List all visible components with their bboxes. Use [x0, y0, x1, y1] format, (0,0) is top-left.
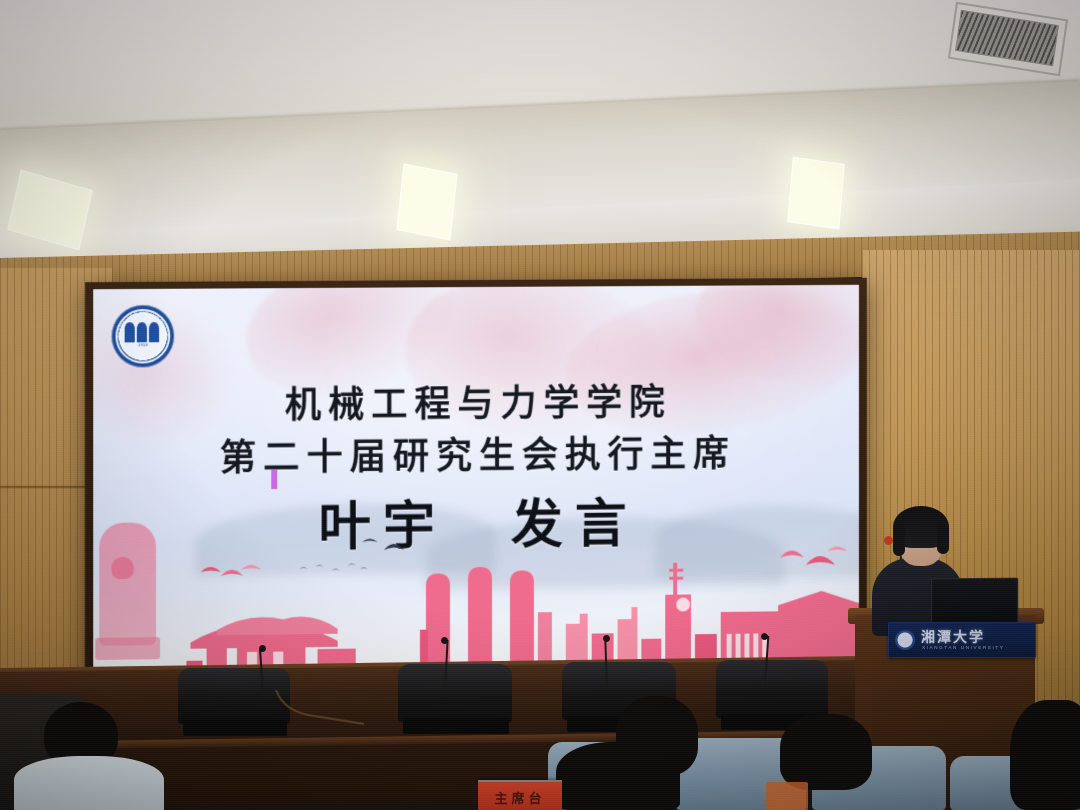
- presentation-slide: 1958 XIANGTAN UNIVERSITY 机械工程与力学学院 第二十届研…: [93, 285, 859, 676]
- audience-head-3: [556, 742, 680, 810]
- xiangtan-university-logo-icon: 1958 XIANGTAN UNIVERSITY: [111, 305, 174, 368]
- statue-base: [95, 637, 160, 660]
- speaker-hair-left: [893, 524, 905, 556]
- table-mic-head-4: [761, 633, 768, 640]
- auditorium-scene: 1958 XIANGTAN UNIVERSITY 机械工程与力学学院 第二十届研…: [0, 0, 1080, 810]
- audience-shoulders-1: [14, 756, 164, 810]
- podium-logo-icon: [895, 630, 915, 650]
- city-skyline-graphic: [93, 517, 859, 676]
- placard-text: 主席台: [478, 788, 562, 807]
- table-mic-head-1: [259, 645, 266, 652]
- table-name-placard: 主席台: [478, 780, 562, 810]
- ceiling-panel-light-2: [396, 163, 457, 240]
- pagoda-silhouette: [186, 576, 397, 675]
- podium-nameplate: 湘潭大学 XIANGTAN UNIVERSITY: [888, 622, 1036, 658]
- stage-chair-2: [398, 664, 512, 722]
- statue-silhouette: [99, 522, 156, 646]
- podium-mic-head: [884, 536, 893, 545]
- projection-screen-frame: 1958 XIANGTAN UNIVERSITY 机械工程与力学学院 第二十届研…: [85, 278, 867, 684]
- table-mic-head-2: [441, 637, 448, 644]
- podium-university-name-cn: 湘潭大学: [921, 627, 985, 647]
- svg-text:XIANGTAN UNIVERSITY: XIANGTAN UNIVERSITY: [117, 310, 170, 338]
- podium-university-name-en: XIANGTAN UNIVERSITY: [922, 645, 1004, 650]
- ceiling-panel-light-3: [787, 157, 845, 229]
- audience-head-4: [780, 714, 872, 790]
- bird-flock-right-icon: [778, 541, 849, 572]
- stage-chair-2-seat: [403, 718, 509, 734]
- stage-chair-1-seat: [183, 720, 287, 736]
- foreground-birds-icon: [358, 534, 418, 565]
- table-mic-head-3: [603, 635, 610, 642]
- stage-chair-4: [716, 660, 828, 718]
- slide-line-department: 机械工程与力学学院: [93, 372, 859, 430]
- slide-line-title: 第二十届研究生会执行主席: [93, 424, 859, 483]
- three-arch-monument-icon: [420, 564, 570, 672]
- mic-cable: [274, 690, 366, 726]
- audience-folder: [766, 782, 808, 810]
- statue-head: [111, 557, 133, 579]
- audience-head-5: [1010, 700, 1080, 810]
- speaker-hair-right: [937, 524, 949, 554]
- bird-flock-left-icon: [199, 559, 264, 582]
- logo-ring-text: XIANGTAN UNIVERSITY: [111, 305, 174, 368]
